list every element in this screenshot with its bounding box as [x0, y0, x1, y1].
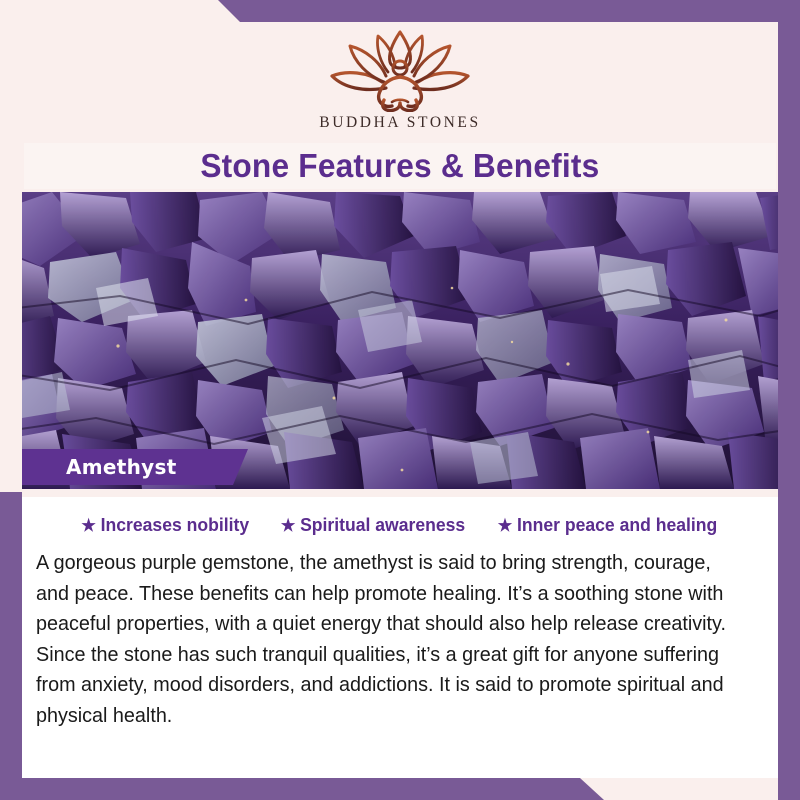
frame-border-corner	[778, 0, 800, 22]
benefit-label: Inner peace and healing	[517, 514, 717, 536]
frame-border-left-notch	[0, 0, 22, 492]
content-panel: ★ Increases nobility ★ Spiritual awarene…	[22, 497, 778, 778]
frame-border-right	[778, 0, 800, 800]
stone-features-infographic: BUDDHA STONES Stone Features & Benefits	[0, 0, 800, 800]
page-title-bar: Stone Features & Benefits	[24, 143, 776, 189]
benefit-item-1: ★ Spiritual awareness	[281, 514, 465, 536]
page-title: Stone Features & Benefits	[200, 147, 599, 185]
brand-logo: BUDDHA STONES	[0, 26, 800, 132]
amethyst-photo	[0, 192, 800, 489]
stone-name-banner: Amethyst	[22, 449, 248, 485]
frame-border-bottom	[0, 778, 800, 800]
benefit-label: Spiritual awareness	[300, 514, 465, 536]
benefit-label: Increases nobility	[101, 514, 249, 536]
benefit-item-0: ★ Increases nobility	[82, 514, 250, 536]
benefit-item-2: ★ Inner peace and healing	[498, 514, 717, 536]
stone-description: A gorgeous purple gemstone, the amethyst…	[36, 548, 746, 731]
brand-name: BUDDHA STONES	[0, 114, 800, 132]
star-icon: ★	[498, 517, 512, 534]
stone-name: Amethyst	[66, 455, 177, 479]
star-icon: ★	[82, 517, 96, 534]
benefits-list: ★ Increases nobility ★ Spiritual awarene…	[22, 497, 778, 536]
lotus-meditation-icon	[324, 26, 476, 112]
star-icon: ★	[281, 517, 295, 534]
